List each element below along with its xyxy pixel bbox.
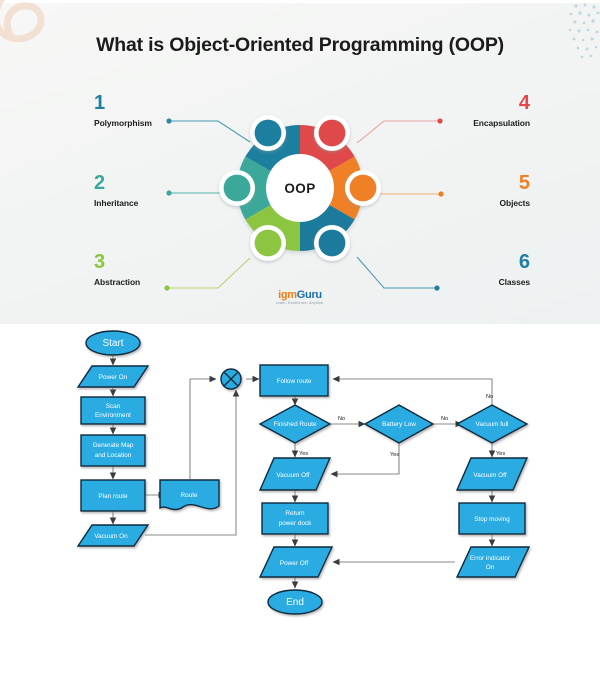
item-encapsulation: 4 Encapsulation (412, 93, 530, 128)
edge-label-battery-no: No (441, 416, 448, 422)
bubble-inheritance (224, 175, 251, 202)
logo-text-guru: Guru (297, 289, 322, 301)
edge-label-vacfull-yes: Yes (496, 451, 505, 457)
label-finished-route: Finished Route (274, 421, 317, 428)
bubble-encapsulation (319, 120, 346, 147)
item-polymorphism: 1 Polymorphism (94, 93, 212, 128)
label-error-l1: Error indicator (470, 555, 511, 562)
item-label-polymorphism: Polymorphism (94, 118, 212, 128)
item-number-1: 1 (94, 93, 212, 113)
node-generate-map[interactable] (81, 435, 145, 466)
oop-infographic-panel: What is Object-Oriented Programming (OOP… (0, 0, 600, 324)
bubble-polymorphism (255, 120, 282, 147)
label-start: Start (102, 338, 123, 349)
panel-top-edge (0, 0, 600, 3)
bubble-abstraction (255, 230, 282, 257)
label-scan-l2: Environment (95, 412, 131, 419)
item-number-6: 6 (412, 252, 530, 272)
label-battery-low: Battery Low (382, 421, 416, 428)
label-vacuum-off-2: Vacuum Off (473, 472, 506, 479)
logo-text-igm: igm (278, 289, 297, 301)
label-vacuum-on: Vacuum On (94, 533, 128, 540)
label-plan-route: Plan route (98, 493, 128, 500)
igmguru-logo: igmGuru Learn. Excellence. Anytime. (0, 290, 600, 305)
item-label-encapsulation: Encapsulation (412, 118, 530, 128)
item-objects: 5 Objects (412, 173, 530, 208)
item-number-3: 3 (94, 252, 212, 272)
edge-label-finished-yes: Yes (299, 451, 308, 457)
label-scan-l1: Scan (106, 403, 121, 410)
edge-label-battery-yes: Yes (390, 452, 399, 458)
oop-wheel-svg (215, 98, 385, 288)
edge-label-finished-no: No (338, 416, 345, 422)
label-error-l2: On (486, 564, 495, 571)
robot-vacuum-flowchart: Start Power On Scan Environment Generate… (0, 324, 600, 677)
label-end: End (286, 597, 304, 608)
oop-wheel (215, 98, 385, 288)
item-number-2: 2 (94, 173, 212, 193)
item-label-abstraction: Abstraction (94, 277, 212, 287)
node-error-indicator[interactable] (457, 547, 529, 577)
edge-label-vacfull-no: No (486, 394, 493, 400)
label-stop-moving: Stop moving (474, 516, 510, 523)
label-return-l1: Return (285, 510, 305, 517)
bubble-classes (319, 230, 346, 257)
bubble-objects (350, 175, 377, 202)
label-map-l1: Generate Map (93, 442, 134, 449)
label-vacuum-full: Vacuum full (476, 421, 509, 428)
item-number-4: 4 (412, 93, 530, 113)
label-follow-route: Follow route (277, 378, 312, 385)
flowchart-panel: Start Power On Scan Environment Generate… (0, 324, 600, 677)
label-return-l2: power dock (279, 520, 312, 527)
label-power-off: Power Off (280, 560, 309, 567)
label-power-on: Power On (99, 374, 128, 381)
item-label-inheritance: Inheritance (94, 198, 212, 208)
item-classes: 6 Classes (412, 252, 530, 287)
label-vacuum-off-1: Vacuum Off (276, 472, 309, 479)
page-title: What is Object-Oriented Programming (OOP… (0, 34, 600, 57)
label-route-doc: Route (180, 492, 197, 499)
item-label-objects: Objects (412, 198, 530, 208)
item-label-classes: Classes (412, 277, 530, 287)
item-inheritance: 2 Inheritance (94, 173, 212, 208)
logo-tagline: Learn. Excellence. Anytime. (0, 302, 600, 305)
item-number-5: 5 (412, 173, 530, 193)
node-scan-environment[interactable] (81, 397, 145, 424)
label-map-l2: and Location (95, 452, 132, 459)
item-abstraction: 3 Abstraction (94, 252, 212, 287)
node-return-power-dock[interactable] (262, 503, 328, 534)
